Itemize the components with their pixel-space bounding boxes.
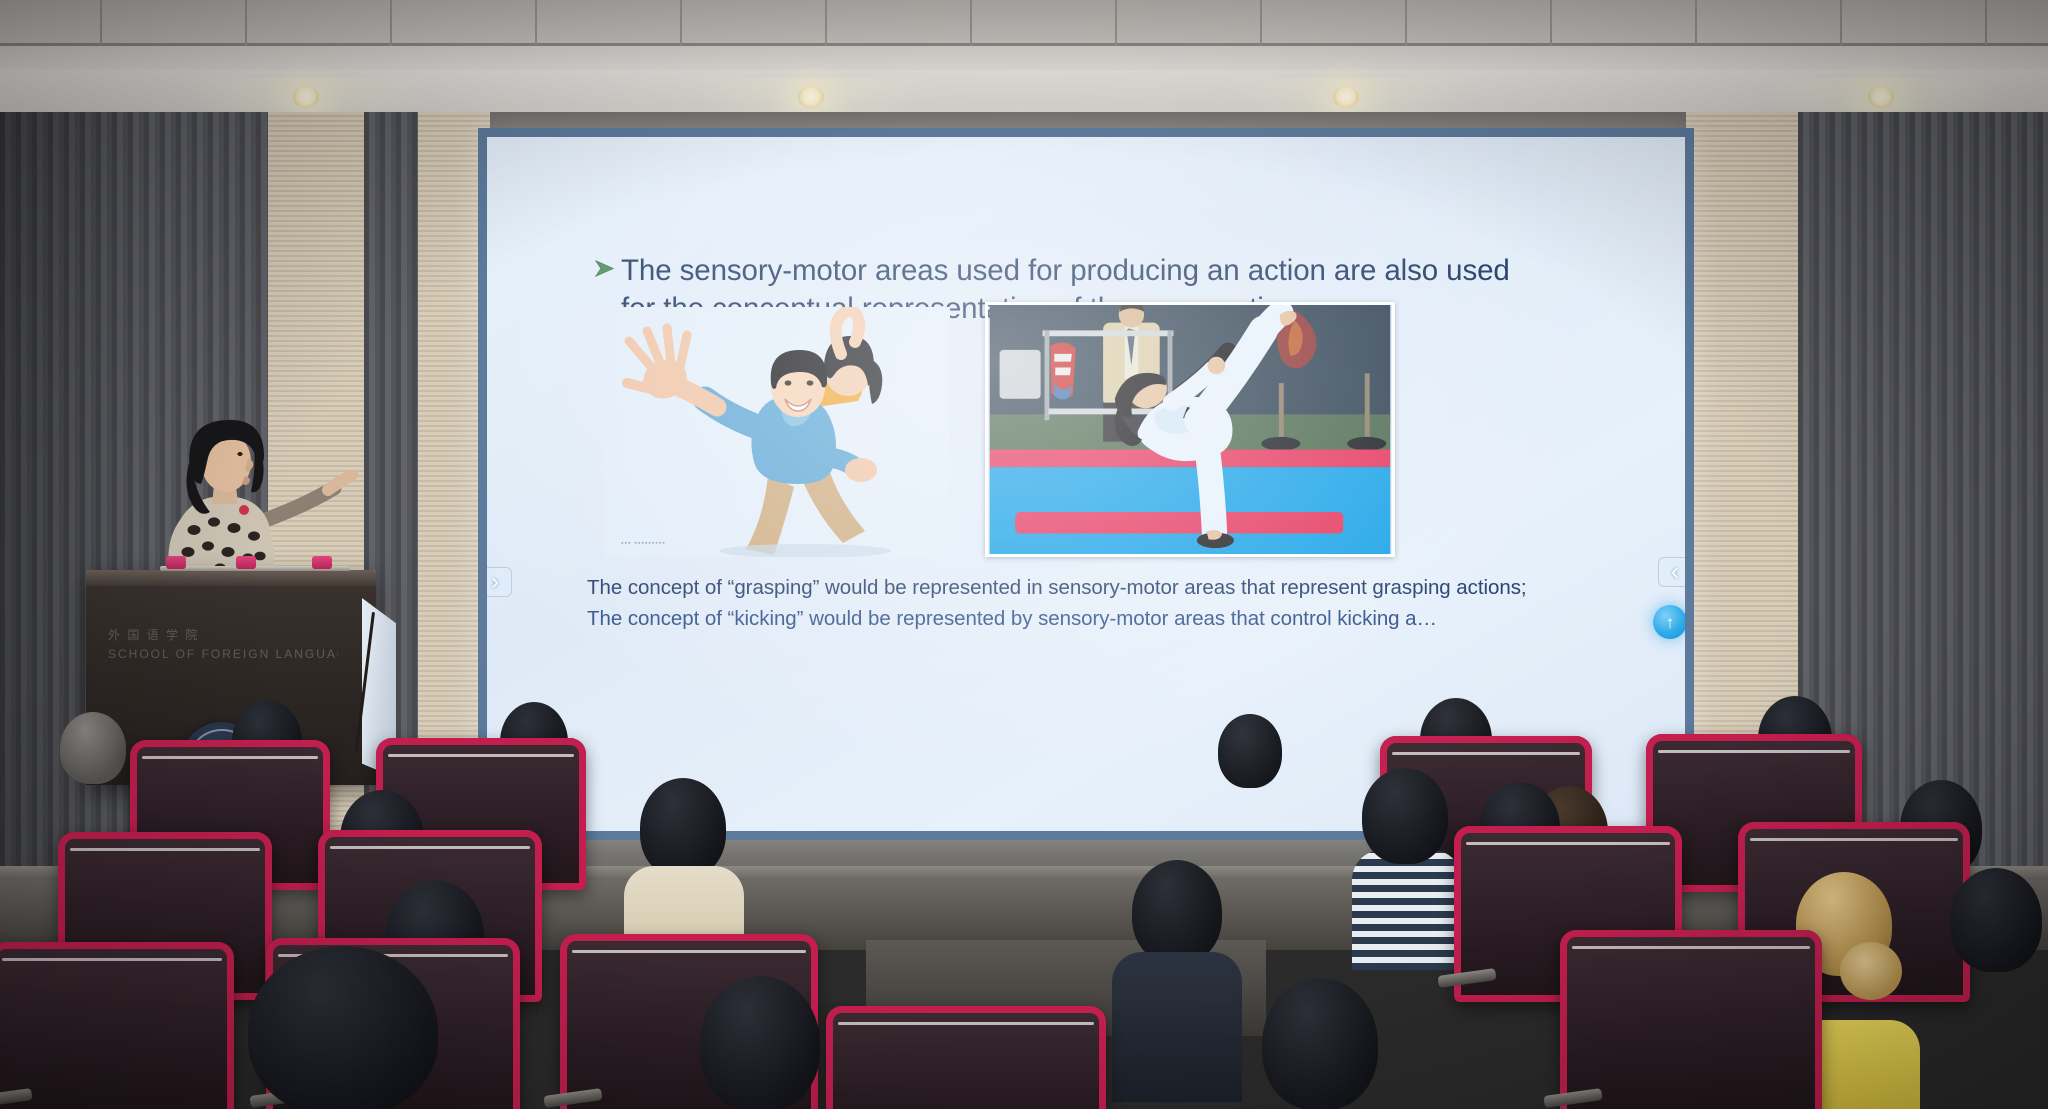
photo-watermark: ▪▪▪ ▪▪▪▪▪▪▪▪▪ (621, 540, 666, 547)
grasping-photo: ▪▪▪ ▪▪▪▪▪▪▪▪▪ (605, 307, 950, 557)
audience-head (700, 976, 820, 1109)
podium-sign: 外 国 语 学 院 SCHOOL OF FOREIGN LANGUAGES (108, 616, 338, 670)
microphone (312, 556, 332, 569)
audience-head (1218, 714, 1282, 788)
audience-torso (1112, 952, 1242, 1102)
podium-top-surface (86, 570, 376, 586)
audience-head (1950, 868, 2042, 972)
seat (826, 1006, 1106, 1109)
slide-caption-line-1: The concept of “grasping” would be repre… (587, 572, 1647, 603)
podium-sign-line-1: 外 国 语 学 院 (108, 626, 338, 643)
microphone (166, 556, 186, 569)
ceiling-downlight (1868, 86, 1894, 108)
ceiling-grid-panels (0, 0, 2048, 46)
microphone-row (160, 556, 350, 572)
seat (0, 942, 234, 1109)
audience-head (1362, 768, 1448, 864)
slide-caption-line-2: The concept of “kicking” would be repres… (587, 603, 1647, 634)
audience-head (1262, 978, 1378, 1109)
ceiling-downlight (798, 86, 824, 108)
audience-head (1132, 860, 1222, 964)
audience-hair-bun (1840, 942, 1902, 1000)
podium-sign-line-2: SCHOOL OF FOREIGN LANGUAGES (108, 647, 338, 661)
audience-head (60, 712, 126, 784)
ceiling-downlight (293, 86, 319, 108)
audience-seating (0, 690, 2048, 1109)
next-slide-button[interactable]: › (487, 567, 512, 597)
lecture-hall-scene: The sensory-motor areas used for produci… (0, 0, 2048, 1109)
share-badge-icon[interactable]: ↑ (1653, 605, 1685, 639)
seat (1560, 930, 1822, 1109)
audience-torso (1352, 850, 1462, 970)
kicking-photo (985, 302, 1395, 557)
microphone (236, 556, 256, 569)
ceiling-downlight (1333, 86, 1359, 108)
ceiling (0, 0, 2048, 118)
audience-head (248, 946, 438, 1109)
previous-slide-button[interactable]: ‹ (1658, 557, 1685, 587)
slide-caption: The concept of “grasping” would be repre… (587, 572, 1647, 634)
audience-head (640, 778, 726, 878)
arrow-bullet-icon (595, 258, 615, 280)
